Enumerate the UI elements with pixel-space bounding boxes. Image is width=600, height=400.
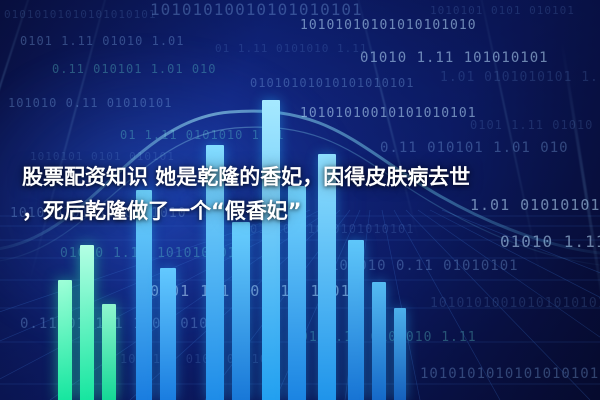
chart-bar	[394, 308, 406, 400]
headline-line-2: ，死后乾隆做了一个“假香妃”	[22, 194, 578, 228]
chart-bar	[80, 245, 94, 400]
headline-text: 股票配资知识 她是乾隆的香妃，因得皮肤病去世 ，死后乾隆做了一个“假香妃”	[22, 160, 578, 228]
image-canvas: 01010101010101010101 1010101001010101010…	[0, 0, 600, 400]
headline-line-1: 股票配资知识 她是乾隆的香妃，因得皮肤病去世	[22, 165, 470, 189]
chart-bar	[160, 268, 176, 400]
chart-bar	[348, 240, 364, 400]
chart-bar	[102, 304, 116, 400]
chart-bar	[262, 100, 280, 400]
chart-bar	[58, 280, 72, 400]
chart-bar	[372, 282, 386, 400]
chart-bar	[232, 222, 250, 400]
